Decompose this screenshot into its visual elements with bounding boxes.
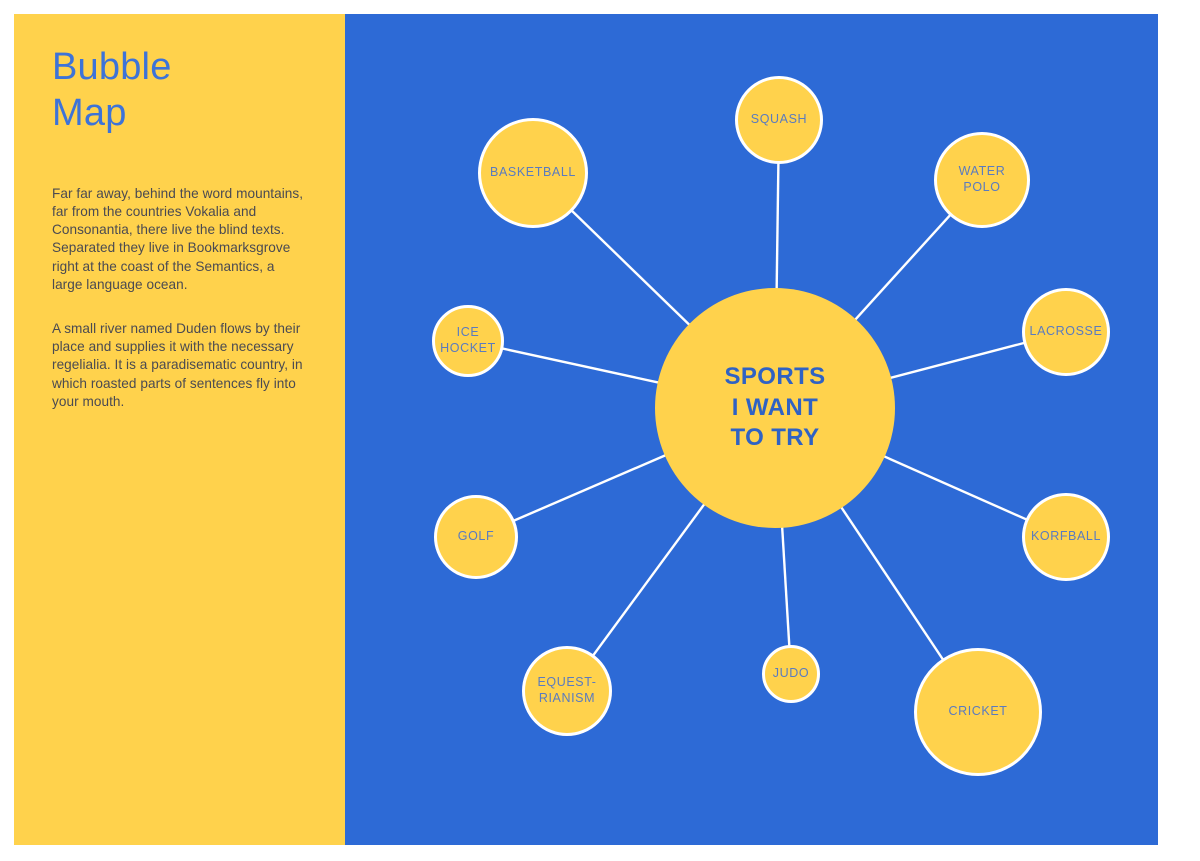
- bubble-label-basketball: BASKETBALL: [486, 165, 580, 181]
- bubble-label-cricket: CRICKET: [944, 704, 1011, 720]
- bubble-lacrosse[interactable]: LACROSSE: [1022, 288, 1110, 376]
- edge-line-basketball: [572, 211, 691, 326]
- sidebar-paragraph-1: Far far away, behind the word mountains,…: [52, 185, 307, 294]
- edge-line-squash: [777, 163, 779, 290]
- edge-line-lacrosse: [889, 343, 1024, 378]
- bubble-equestrianism[interactable]: EQUEST- RIANISM: [522, 646, 612, 736]
- sidebar-panel: Bubble Map Far far away, behind the word…: [14, 14, 345, 845]
- edge-line-cricket: [841, 506, 943, 659]
- bubble-label-golf: GOLF: [454, 529, 498, 545]
- edge-line-equestrianism: [593, 503, 705, 655]
- bubble-label-lacrosse: LACROSSE: [1026, 324, 1107, 340]
- edge-line-korfball: [883, 456, 1027, 520]
- edge-line-judo: [782, 526, 789, 646]
- page-title: Bubble Map: [52, 44, 307, 137]
- bubble-map-page: Bubble Map Far far away, behind the word…: [0, 0, 1200, 861]
- bubble-label-equestrianism: EQUEST- RIANISM: [533, 675, 600, 706]
- bubble-basketball[interactable]: BASKETBALL: [478, 118, 588, 228]
- center-bubble[interactable]: SPORTS I WANT TO TRY: [655, 288, 895, 528]
- bubble-water-polo[interactable]: WATER POLO: [934, 132, 1030, 228]
- bubble-korfball[interactable]: KORFBALL: [1022, 493, 1110, 581]
- edge-line-water-polo: [854, 215, 950, 321]
- edge-line-golf: [514, 455, 667, 521]
- bubble-golf[interactable]: GOLF: [434, 495, 518, 579]
- bubble-ice-hocket[interactable]: ICE HOCKET: [432, 305, 504, 377]
- bubble-judo[interactable]: JUDO: [762, 645, 820, 703]
- bubble-squash[interactable]: SQUASH: [735, 76, 823, 164]
- bubble-label-squash: SQUASH: [747, 112, 811, 128]
- bubble-label-korfball: KORFBALL: [1027, 529, 1105, 545]
- edge-line-ice-hocket: [502, 348, 660, 382]
- bubble-label-ice-hocket: ICE HOCKET: [436, 325, 500, 356]
- center-bubble-label: SPORTS I WANT TO TRY: [724, 362, 825, 454]
- bubble-cricket[interactable]: CRICKET: [914, 648, 1042, 776]
- bubble-label-water-polo: WATER POLO: [955, 164, 1010, 195]
- diagram-canvas: SPORTS I WANT TO TRYSQUASHBASKETBALLWATE…: [345, 14, 1158, 845]
- sidebar-paragraph-2: A small river named Duden flows by their…: [52, 320, 307, 411]
- bubble-label-judo: JUDO: [769, 666, 813, 682]
